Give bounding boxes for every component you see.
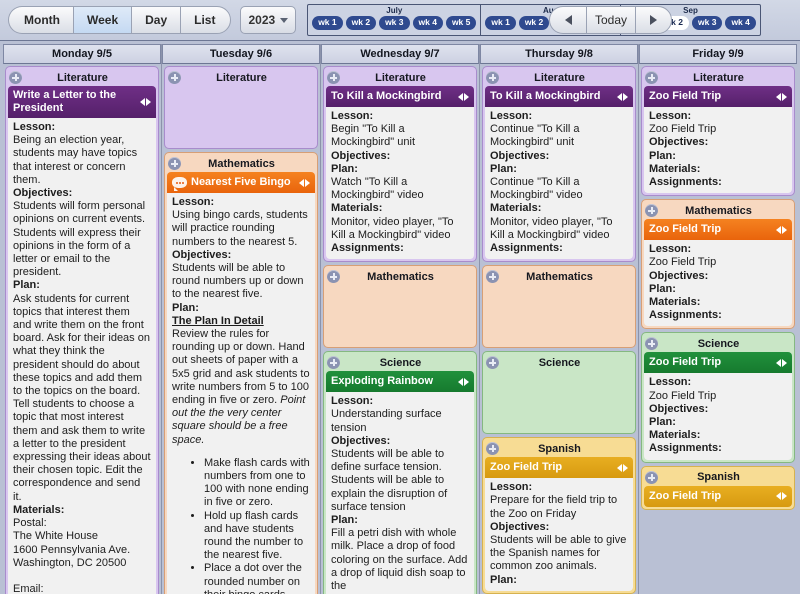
week-chip[interactable]: wk 2 [519, 16, 549, 30]
subject-block-header: Science [485, 354, 633, 371]
lesson-label: Lesson: [331, 395, 469, 408]
day-column-body: LiteratureMathematicsNearest Five BingoL… [162, 64, 320, 594]
lesson-event-title: Zoo Field Trip [649, 90, 772, 103]
plus-circle-icon[interactable] [327, 71, 340, 84]
day-column-header: Tuesday 9/6 [162, 44, 320, 64]
subject-block-literature: LiteratureZoo Field TripLesson:Zoo Field… [641, 66, 795, 196]
empty-subject-area[interactable] [167, 86, 315, 146]
plan-label: Plan: [13, 279, 151, 292]
subject-block-header: Science [326, 354, 474, 371]
lesson-event[interactable]: Write a Letter to the PresidentLesson:Be… [8, 86, 156, 594]
plus-circle-icon[interactable] [486, 270, 499, 283]
view-tab-label: List [194, 13, 215, 27]
event-text-line: Being an election year, students may hav… [13, 134, 151, 187]
plan-label: Plan: [490, 163, 628, 176]
plan-subheading: The Plan In Detail [172, 315, 310, 328]
materials-label: Materials: [331, 202, 469, 215]
plan-label: Plan: [172, 302, 310, 315]
assignments-label: Assignments: [490, 242, 628, 255]
today-button-label: Today [595, 13, 627, 27]
subject-block-literature: LiteratureWrite a Letter to the Presiden… [5, 66, 159, 594]
subject-block-spanish: SpanishZoo Field TripLesson:Prepare for … [482, 437, 636, 594]
lesson-event[interactable]: Exploding RainbowLesson:Understanding su… [326, 371, 474, 594]
event-text-line: The White House [13, 530, 151, 543]
subject-name: Literature [658, 72, 779, 84]
subject-block-science: Science [482, 351, 636, 434]
plus-circle-icon[interactable] [645, 204, 658, 217]
objectives-label: Objectives: [331, 435, 469, 448]
subject-block-header: Mathematics [485, 268, 633, 285]
event-text-line: Postal: [13, 517, 151, 530]
lesson-event-nav-arrows[interactable] [458, 378, 469, 386]
triangle-left-icon[interactable] [458, 378, 463, 386]
subject-name: Mathematics [340, 271, 461, 283]
year-select-value: 2023 [248, 13, 275, 27]
view-tab-list[interactable]: List [180, 6, 231, 34]
triangle-left-icon[interactable] [140, 98, 145, 106]
subject-block-literature: Literature [164, 66, 318, 149]
subject-block-mathematics: MathematicsZoo Field TripLesson:Zoo Fiel… [641, 199, 795, 329]
subject-name: Literature [22, 72, 143, 84]
triangle-left-icon[interactable] [458, 93, 463, 101]
event-text-line: Students will be able to round numbers u… [172, 262, 310, 302]
plan-bullet-item: Make flash cards with numbers from one t… [204, 457, 310, 510]
lesson-event[interactable]: Zoo Field Trip [644, 486, 792, 507]
date-navigation: Today [549, 6, 672, 34]
lesson-event-body: Lesson:Begin "To Kill a Mockingbird" uni… [326, 107, 474, 259]
triangle-right-icon[interactable] [782, 492, 787, 500]
objectives-label: Objectives: [490, 521, 628, 534]
event-text-line: Students will express their opinions in … [13, 227, 151, 280]
objectives-label: Objectives: [13, 187, 151, 200]
subject-block-header: Science [644, 335, 792, 352]
event-text-line: Begin "To Kill a Mockingbird" unit [331, 123, 469, 149]
week-chip[interactable]: wk 1 [485, 16, 515, 30]
year-select[interactable]: 2023 [240, 6, 296, 34]
day-column: Tuesday 9/6LiteratureMathematicsNearest … [162, 44, 321, 594]
triangle-right-icon[interactable] [782, 93, 787, 101]
subject-block-header: Literature [326, 69, 474, 86]
subject-block-literature: LiteratureTo Kill a MockingbirdLesson:Be… [323, 66, 477, 262]
speech-bubble-icon[interactable] [172, 177, 187, 188]
week-chip-row: wk 1wk 2wk 3wk 4wk 5 [312, 16, 476, 32]
previous-week-button[interactable] [549, 6, 586, 34]
subject-name: Literature [499, 72, 620, 84]
day-column: Monday 9/5LiteratureWrite a Letter to th… [3, 44, 162, 594]
lesson-event-title: Zoo Field Trip [649, 223, 772, 236]
triangle-right-icon[interactable] [464, 93, 469, 101]
lesson-event-header[interactable]: To Kill a Mockingbird [326, 86, 474, 107]
subject-block-header: Literature [485, 69, 633, 86]
subject-block-science: ScienceZoo Field TripLesson:Zoo Field Tr… [641, 332, 795, 462]
lesson-event-nav-arrows[interactable] [776, 93, 787, 101]
triangle-left-icon[interactable] [617, 93, 622, 101]
event-text-line: Students will be able to give the Spanis… [490, 534, 628, 574]
lesson-event-title: Zoo Field Trip [490, 461, 613, 474]
subject-block-science: ScienceExploding RainbowLesson:Understan… [323, 351, 477, 594]
triangle-left-icon[interactable] [776, 93, 781, 101]
objectives-label: Objectives: [649, 136, 787, 149]
lesson-planner-app: MonthWeekDayList 2023 Julywk 1wk 2wk 3wk… [0, 0, 800, 594]
materials-label: Materials: [490, 202, 628, 215]
lesson-event[interactable]: Zoo Field TripLesson:Zoo Field TripObjec… [644, 352, 792, 459]
subject-name: Science [658, 338, 779, 350]
triangle-right-icon[interactable] [623, 93, 628, 101]
triangle-right-icon[interactable] [305, 179, 310, 187]
day-column: Friday 9/9LiteratureZoo Field TripLesson… [639, 44, 797, 594]
week-chip[interactable]: wk 4 [725, 16, 755, 30]
assignments-label: Assignments: [331, 242, 469, 255]
day-column: Wednesday 9/7LiteratureTo Kill a Mocking… [321, 44, 480, 594]
lesson-event-header[interactable]: Write a Letter to the President [8, 86, 156, 118]
chevron-down-icon [280, 18, 288, 23]
triangle-left-icon[interactable] [299, 179, 304, 187]
lesson-event-title: To Kill a Mockingbird [490, 90, 613, 103]
speech-bubble-dot [182, 182, 184, 184]
lesson-label: Lesson: [649, 243, 787, 256]
view-tab-label: Month [24, 13, 60, 27]
objectives-label: Objectives: [172, 249, 310, 262]
day-column-header: Friday 9/9 [639, 44, 797, 64]
lesson-event-nav-arrows[interactable] [299, 179, 310, 187]
lesson-event-title: Exploding Rainbow [331, 375, 454, 388]
event-text-line: Students will be able to explain the dis… [331, 474, 469, 514]
lesson-event-title: Write a Letter to the President [13, 89, 136, 115]
objectives-label: Objectives: [331, 150, 469, 163]
lesson-event-header[interactable]: Zoo Field Trip [644, 86, 792, 107]
subject-name: Spanish [499, 443, 620, 455]
subject-block-header: Literature [167, 69, 315, 86]
triangle-right-icon [650, 15, 657, 25]
lesson-event-nav-arrows[interactable] [140, 98, 151, 106]
subject-name: Science [499, 357, 620, 369]
subject-name: Literature [181, 72, 302, 84]
subject-name: Science [340, 357, 461, 369]
lesson-event-header[interactable]: Zoo Field Trip [644, 486, 792, 507]
week-chip[interactable]: wk 3 [379, 16, 409, 30]
lesson-event-body: Lesson:Zoo Field TripObjectives:Plan:Mat… [644, 107, 792, 193]
lesson-event-header[interactable]: Zoo Field Trip [644, 219, 792, 240]
day-column-body: LiteratureZoo Field TripLesson:Zoo Field… [639, 64, 797, 594]
month-label: Sep [683, 5, 698, 16]
triangle-left-icon[interactable] [776, 226, 781, 234]
day-column-header: Thursday 9/8 [480, 44, 638, 64]
triangle-right-icon[interactable] [464, 378, 469, 386]
view-tab-day[interactable]: Day [131, 6, 180, 34]
lesson-event[interactable]: Zoo Field TripLesson:Zoo Field TripObjec… [644, 219, 792, 326]
day-column-body: LiteratureTo Kill a MockingbirdLesson:Be… [321, 64, 479, 594]
materials-label: Materials: [649, 296, 787, 309]
lesson-event-body: Lesson:Prepare for the field trip to the… [485, 478, 633, 591]
plan-text: Continue "To Kill a Mockingbird" video [490, 176, 628, 202]
lesson-event-nav-arrows[interactable] [776, 492, 787, 500]
lesson-event-header[interactable]: Zoo Field Trip [485, 457, 633, 478]
lesson-event-title: Zoo Field Trip [649, 490, 772, 503]
subject-block-header: Mathematics [326, 268, 474, 285]
toolbar: MonthWeekDayList 2023 Julywk 1wk 2wk 3wk… [0, 0, 800, 41]
subject-block-header: Mathematics [167, 155, 315, 172]
event-text-line: Prepare for the field trip to the Zoo on… [490, 494, 628, 520]
materials-label: Materials: [649, 163, 787, 176]
materials-label: Materials: [13, 504, 151, 517]
plus-circle-icon[interactable] [327, 356, 340, 369]
assignments-label: Assignments: [649, 309, 787, 322]
subject-name: Spanish [658, 471, 779, 483]
plan-bullet-item: Hold up flash cards and have students ro… [204, 510, 310, 563]
month-group-july: Julywk 1wk 2wk 3wk 4wk 5 [308, 5, 481, 35]
triangle-right-icon[interactable] [782, 226, 787, 234]
lesson-event-body: Lesson:Zoo Field TripObjectives:Plan:Mat… [644, 373, 792, 459]
event-text-line: Zoo Field Trip [649, 256, 787, 269]
lesson-label: Lesson: [13, 121, 151, 134]
triangle-right-icon[interactable] [146, 98, 151, 106]
empty-subject-area[interactable] [326, 285, 474, 345]
plan-text: Ask students for current topics that int… [13, 293, 151, 504]
triangle-left-icon[interactable] [776, 492, 781, 500]
plus-circle-icon[interactable] [645, 337, 658, 350]
today-button[interactable]: Today [586, 6, 635, 34]
plan-bullet-item: Place a dot over the rounded number on t… [204, 562, 310, 594]
plan-label: Plan: [649, 416, 787, 429]
plus-circle-icon[interactable] [486, 442, 499, 455]
subject-block-spanish: SpanishZoo Field Trip [641, 466, 795, 510]
lesson-event-header[interactable]: To Kill a Mockingbird [485, 86, 633, 107]
week-grid: Monday 9/5LiteratureWrite a Letter to th… [0, 41, 800, 594]
event-text-line: Monitor, video player, "To Kill a Mockin… [490, 216, 628, 242]
lesson-event[interactable]: To Kill a MockingbirdLesson:Continue "To… [485, 86, 633, 259]
subject-block-mathematics: MathematicsNearest Five BingoLesson:Usin… [164, 152, 318, 594]
subject-block-mathematics: Mathematics [482, 265, 636, 348]
subject-block-header: Spanish [644, 469, 792, 486]
lesson-event[interactable]: Nearest Five BingoLesson:Using bingo car… [167, 172, 315, 594]
plus-circle-icon[interactable] [327, 270, 340, 283]
subject-block-header: Literature [644, 69, 792, 86]
subject-name: Mathematics [181, 158, 302, 170]
view-switcher[interactable]: MonthWeekDayList [8, 6, 231, 34]
subject-name: Mathematics [499, 271, 620, 283]
subject-name: Literature [340, 72, 461, 84]
lesson-event-nav-arrows[interactable] [776, 226, 787, 234]
materials-label: Materials: [649, 429, 787, 442]
event-text-line: Students will be able to define surface … [331, 448, 469, 474]
plan-text: Watch "To Kill a Mockingbird" video [331, 176, 469, 202]
lesson-event[interactable]: To Kill a MockingbirdLesson:Begin "To Ki… [326, 86, 474, 259]
lesson-event-title: To Kill a Mockingbird [331, 90, 454, 103]
lesson-label: Lesson: [649, 376, 787, 389]
plan-label: Plan: [331, 163, 469, 176]
lesson-event-nav-arrows[interactable] [617, 464, 628, 472]
subject-block-mathematics: Mathematics [323, 265, 477, 348]
lesson-event-body: Lesson:Zoo Field TripObjectives:Plan:Mat… [644, 240, 792, 326]
speech-bubble-dot [179, 182, 181, 184]
plus-circle-icon[interactable] [168, 71, 181, 84]
lesson-label: Lesson: [172, 196, 310, 209]
empty-subject-area[interactable] [485, 285, 633, 345]
lesson-event-body: Lesson:Using bingo cards, students will … [167, 193, 315, 594]
plan-label: Plan: [331, 514, 469, 527]
lesson-event-body: Lesson:Continue "To Kill a Mockingbird" … [485, 107, 633, 259]
subject-block-header: Spanish [485, 440, 633, 457]
plan-label: Plan: [490, 574, 628, 587]
plus-circle-icon[interactable] [168, 157, 181, 170]
triangle-right-icon[interactable] [782, 359, 787, 367]
lesson-event-nav-arrows[interactable] [776, 359, 787, 367]
week-chip[interactable]: wk 4 [413, 16, 443, 30]
event-text-line: Monitor, video player, "To Kill a Mockin… [331, 216, 469, 242]
event-text-line: Washington, DC 20500 [13, 557, 151, 570]
lesson-label: Lesson: [490, 481, 628, 494]
week-chip[interactable]: wk 2 [346, 16, 376, 30]
lesson-label: Lesson: [331, 110, 469, 123]
empty-subject-area[interactable] [485, 371, 633, 431]
month-label: July [386, 5, 402, 16]
week-chip[interactable]: wk 3 [692, 16, 722, 30]
plus-circle-icon[interactable] [486, 71, 499, 84]
view-tab-label: Day [145, 13, 167, 27]
lesson-event-header[interactable]: Exploding Rainbow [326, 371, 474, 392]
triangle-right-icon[interactable] [623, 464, 628, 472]
day-column-header: Wednesday 9/7 [321, 44, 479, 64]
event-text-line: Students will form personal opinions on … [13, 200, 151, 226]
view-tab-week[interactable]: Week [73, 6, 131, 34]
next-week-button[interactable] [635, 6, 672, 34]
triangle-left-icon [565, 15, 572, 25]
subject-block-header: Mathematics [644, 202, 792, 219]
event-text-line: Continue "To Kill a Mockingbird" unit [490, 123, 628, 149]
week-chip[interactable]: wk 5 [446, 16, 476, 30]
subject-name: Mathematics [658, 205, 779, 217]
plan-text: Review the rules for rounding up or down… [172, 328, 310, 447]
speech-bubble-dot [176, 182, 178, 184]
objectives-label: Objectives: [649, 270, 787, 283]
lesson-event-body: Lesson:Being an election year, students … [8, 118, 156, 594]
lesson-event-body: Lesson:Understanding surface tensionObje… [326, 392, 474, 594]
assignments-label: Assignments: [649, 176, 787, 189]
plus-circle-icon[interactable] [645, 71, 658, 84]
triangle-left-icon[interactable] [617, 464, 622, 472]
lesson-label: Lesson: [490, 110, 628, 123]
plan-bullet-list: Make flash cards with numbers from one t… [172, 457, 310, 594]
lesson-event-header[interactable]: Zoo Field Trip [644, 352, 792, 373]
triangle-left-icon[interactable] [776, 359, 781, 367]
lesson-event-title: Zoo Field Trip [649, 356, 772, 369]
view-tab-label: Week [87, 13, 118, 27]
plus-circle-icon[interactable] [645, 471, 658, 484]
lesson-label: Lesson: [649, 110, 787, 123]
lesson-event-title: Nearest Five Bingo [191, 176, 295, 189]
plan-label: Plan: [649, 150, 787, 163]
event-text-line: Understanding surface tension [331, 408, 469, 434]
week-picker[interactable]: Julywk 1wk 2wk 3wk 4wk 5Augwk 1wk 2wk 3w… [307, 4, 761, 36]
subject-block-literature: LiteratureTo Kill a MockingbirdLesson:Co… [482, 66, 636, 262]
week-chip[interactable]: wk 1 [312, 16, 342, 30]
event-text-line [13, 570, 16, 582]
lesson-event[interactable]: Zoo Field TripLesson:Prepare for the fie… [485, 457, 633, 591]
lesson-event-nav-arrows[interactable] [458, 93, 469, 101]
event-text-line: Email: [13, 583, 151, 594]
event-text-line: Zoo Field Trip [649, 123, 787, 136]
plan-label: Plan: [649, 283, 787, 296]
day-column: Thursday 9/8LiteratureTo Kill a Mockingb… [480, 44, 639, 594]
lesson-event-header[interactable]: Nearest Five Bingo [167, 172, 315, 193]
day-column-header: Monday 9/5 [3, 44, 161, 64]
plan-text-italic: Point out the the very center square sho… [172, 394, 305, 446]
day-column-body: LiteratureTo Kill a MockingbirdLesson:Co… [480, 64, 638, 594]
view-tab-month[interactable]: Month [8, 6, 73, 34]
plus-circle-icon[interactable] [9, 71, 22, 84]
objectives-label: Objectives: [490, 150, 628, 163]
objectives-label: Objectives: [649, 403, 787, 416]
lesson-event-nav-arrows[interactable] [617, 93, 628, 101]
subject-block-header: Literature [8, 69, 156, 86]
plus-circle-icon[interactable] [486, 356, 499, 369]
event-text-line: 1600 Pennsylvania Ave. [13, 544, 151, 557]
plan-text: Fill a petri dish with whole milk. Place… [331, 527, 469, 593]
event-text-line: Zoo Field Trip [649, 390, 787, 403]
event-text-line: Using bingo cards, students will practic… [172, 209, 310, 249]
assignments-label: Assignments: [649, 442, 787, 455]
day-column-body: LiteratureWrite a Letter to the Presiden… [3, 64, 161, 594]
lesson-event[interactable]: Zoo Field TripLesson:Zoo Field TripObjec… [644, 86, 792, 193]
